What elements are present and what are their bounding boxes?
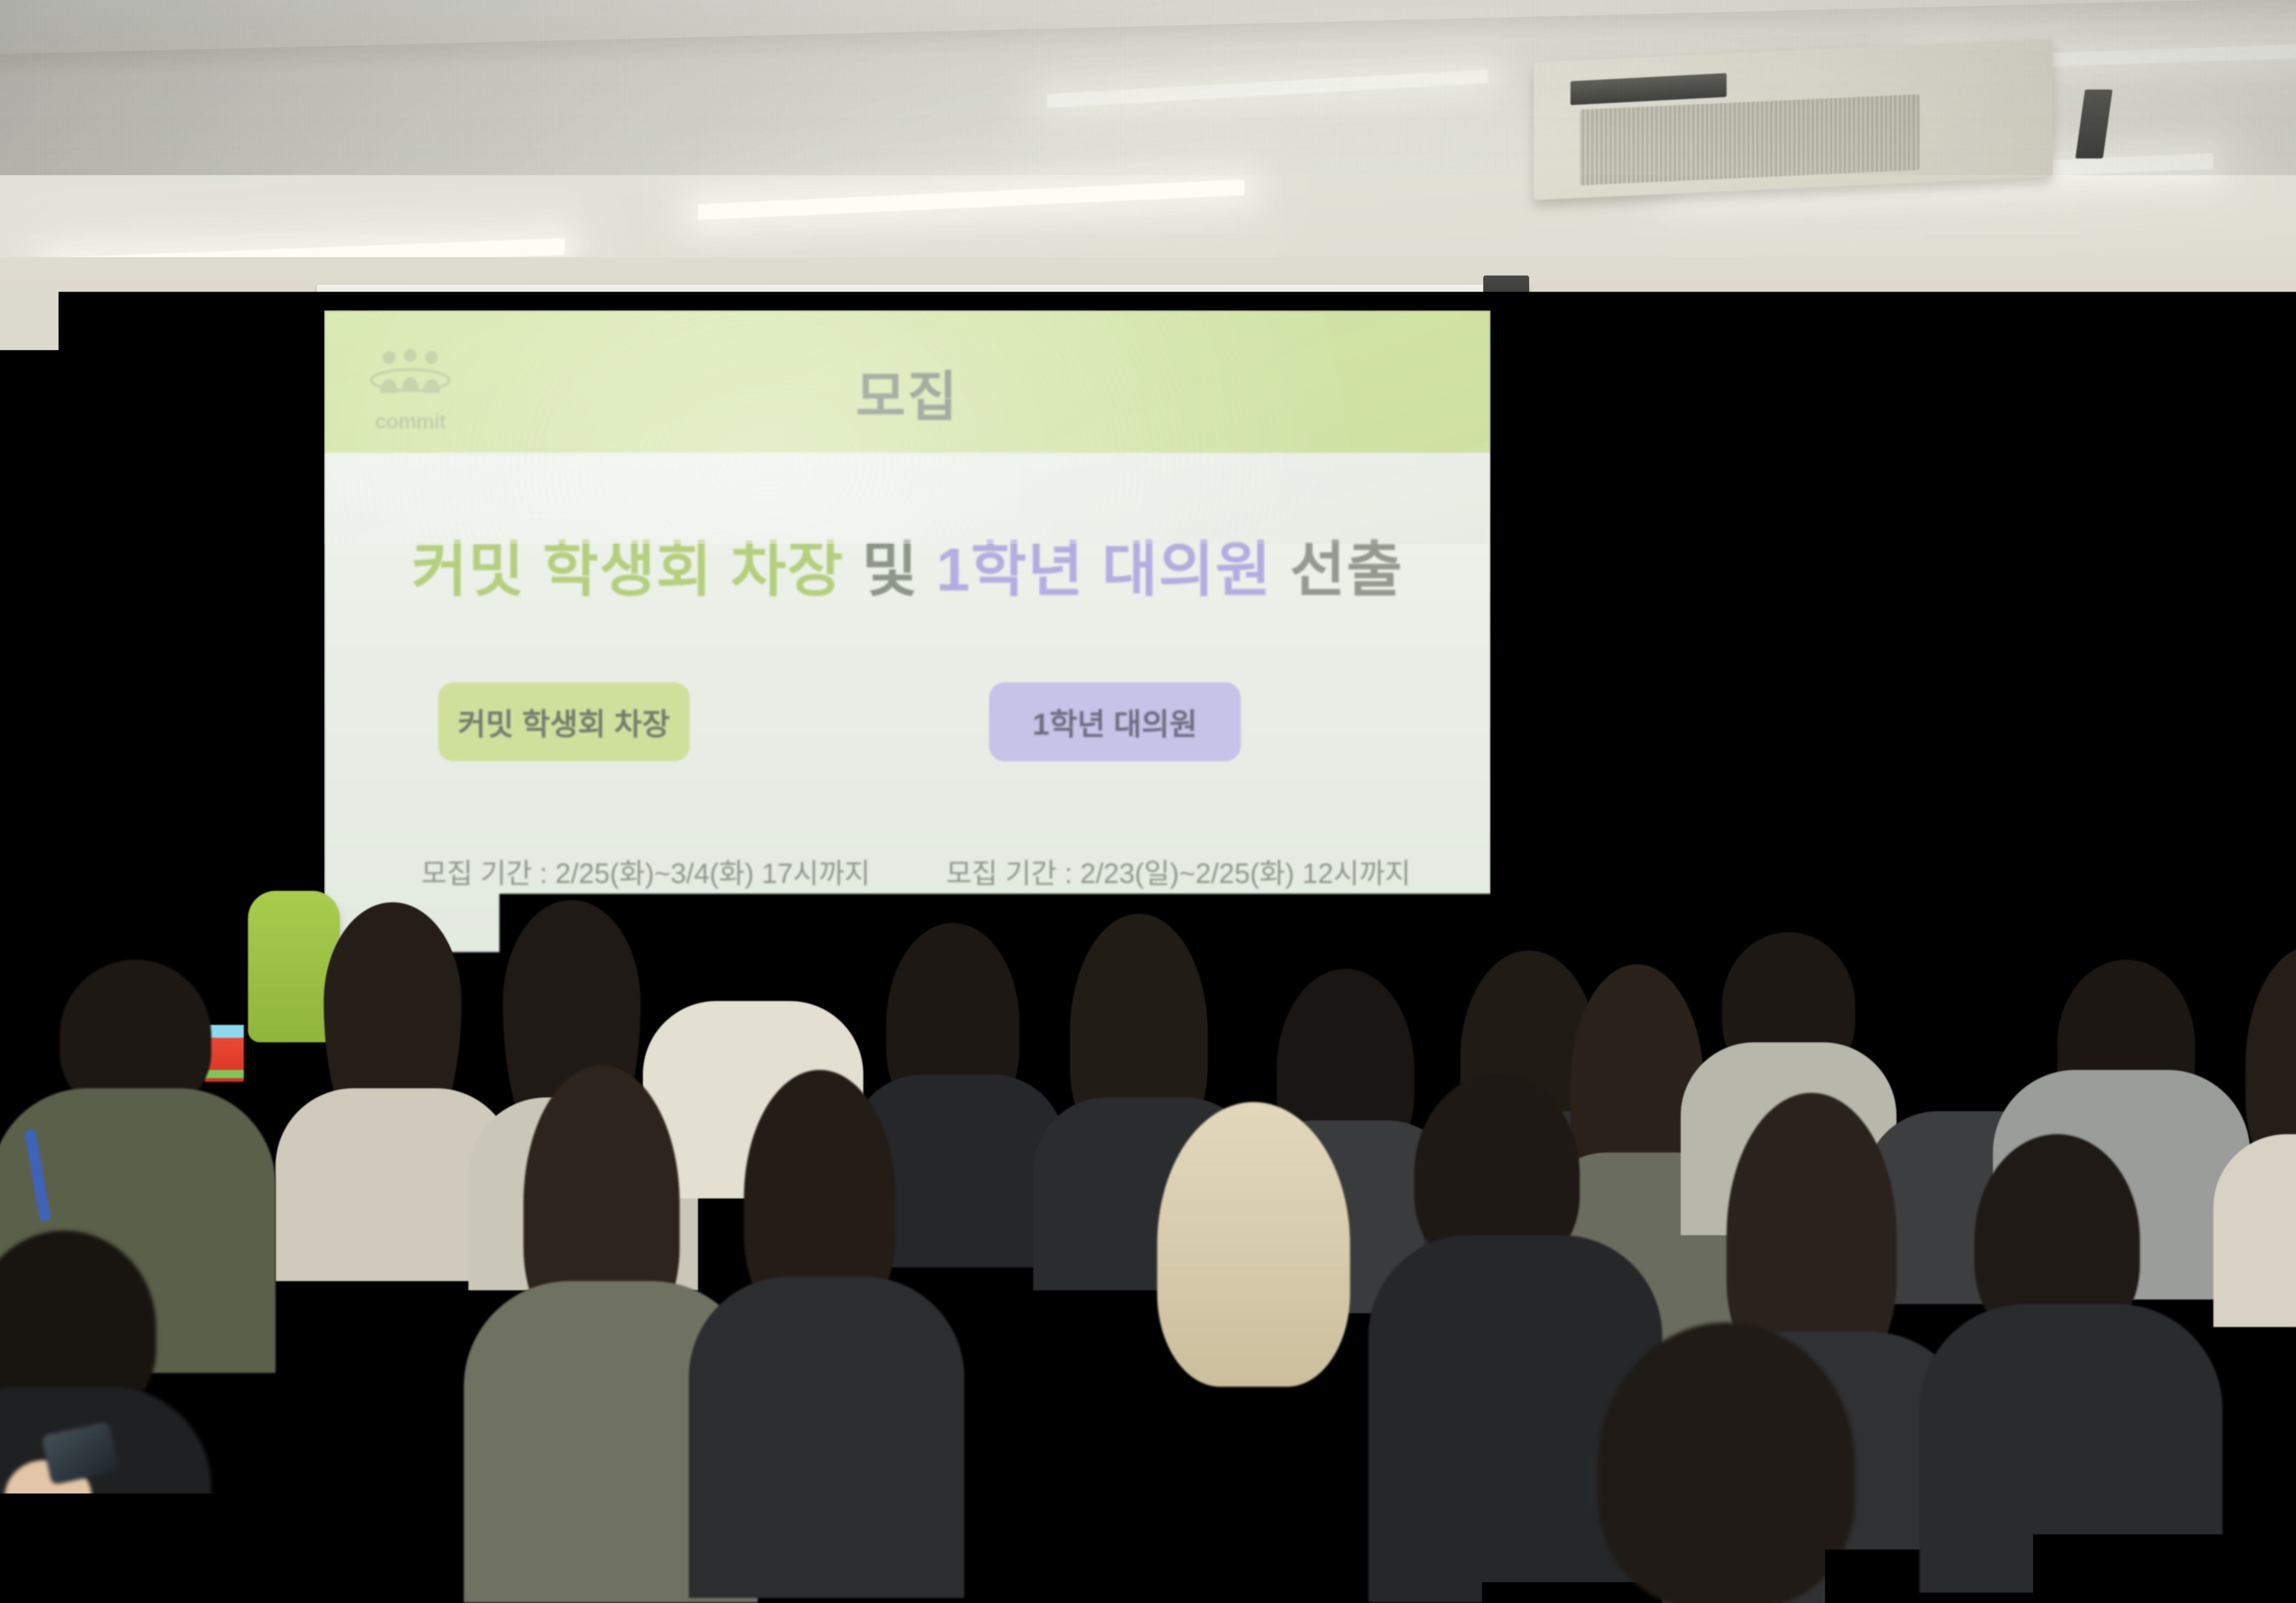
headline-part-2: 및 (862, 536, 918, 603)
juice-carton-strip (204, 1070, 244, 1078)
headline-part-1: 커밋 학생회 차장 (411, 536, 844, 603)
right-line-1: 모집 기간 : 2/23(일)~2/25(화) 12시까지 (907, 852, 1449, 895)
juice-carton-top (330, 1303, 376, 1316)
juice-carton-left-mid (330, 1303, 376, 1372)
whiteboard-glare-5 (1888, 545, 2082, 550)
left-line-2: 면접 : 3/5(수) 18시 (375, 895, 917, 938)
whiteboard-glare-1 (1504, 425, 1657, 433)
audience-member-foreground (854, 1350, 1139, 1603)
slide-header-band: commit 모집 (324, 310, 1491, 453)
juice-carton-strip (330, 1360, 376, 1368)
right-line-2: 투표 : 2/25(화) 15시 이후 (907, 895, 1449, 938)
projector-screen-housing (317, 285, 1529, 310)
audience-hair-tie (1189, 1345, 1244, 1363)
projection-screen[interactable]: commit 모집 커밋 학생회 차장 및 1학년 대의원 선출 커밋 학생회 … (324, 310, 1491, 1018)
slide-pill-row: 커밋 학생회 차장 1학년 대의원 (324, 682, 1491, 770)
glass-whiteboard[interactable] (1480, 399, 2296, 1031)
slide-header-title: 모집 (324, 353, 1491, 431)
water-bottle-label (400, 1284, 421, 1303)
whiteboard-highlight-dot (1917, 472, 1929, 488)
headline-part-3: 1학년 대의원 (936, 536, 1272, 603)
slide-body: 커밋 학생회 차장 및 1학년 대의원 선출 커밋 학생회 차장 1학년 대의원… (324, 453, 1491, 1018)
audience-member-foreground-body (1534, 1497, 1910, 1603)
classroom-scene: commit 모집 커밋 학생회 차장 및 1학년 대의원 선출 커밋 학생회 … (0, 0, 2296, 1603)
whiteboard-glare-3 (1750, 519, 1967, 525)
audience-member-face (762, 918, 827, 1001)
audience-member-blonde (1157, 1102, 1350, 1387)
audience-member-body (1919, 1304, 2223, 1603)
presentation-slide: commit 모집 커밋 학생회 차장 및 1학년 대의원 선출 커밋 학생회 … (324, 310, 1491, 1018)
headline-part-4: 선출 (1290, 536, 1403, 603)
whiteboard-glare-4 (2218, 517, 2296, 523)
slide-column-left: 모집 기간 : 2/25(화)~3/4(화) 17시까지 면접 : 3/5(수)… (375, 852, 917, 980)
whiteboard-glare-2 (1947, 417, 2261, 426)
slide-headline: 커밋 학생회 차장 및 1학년 대의원 선출 (324, 521, 1491, 608)
pill-label-vice-chief: 커밋 학생회 차장 (438, 682, 690, 761)
left-line-1: 모집 기간 : 2/25(화)~3/4(화) 17시까지 (375, 852, 917, 895)
slide-column-right: 모집 기간 : 2/23(일)~2/25(화) 12시까지 투표 : 2/25(… (907, 852, 1449, 937)
pill-label-freshman-rep: 1학년 대의원 (989, 682, 1241, 761)
air-conditioner-grille (1580, 94, 1919, 186)
